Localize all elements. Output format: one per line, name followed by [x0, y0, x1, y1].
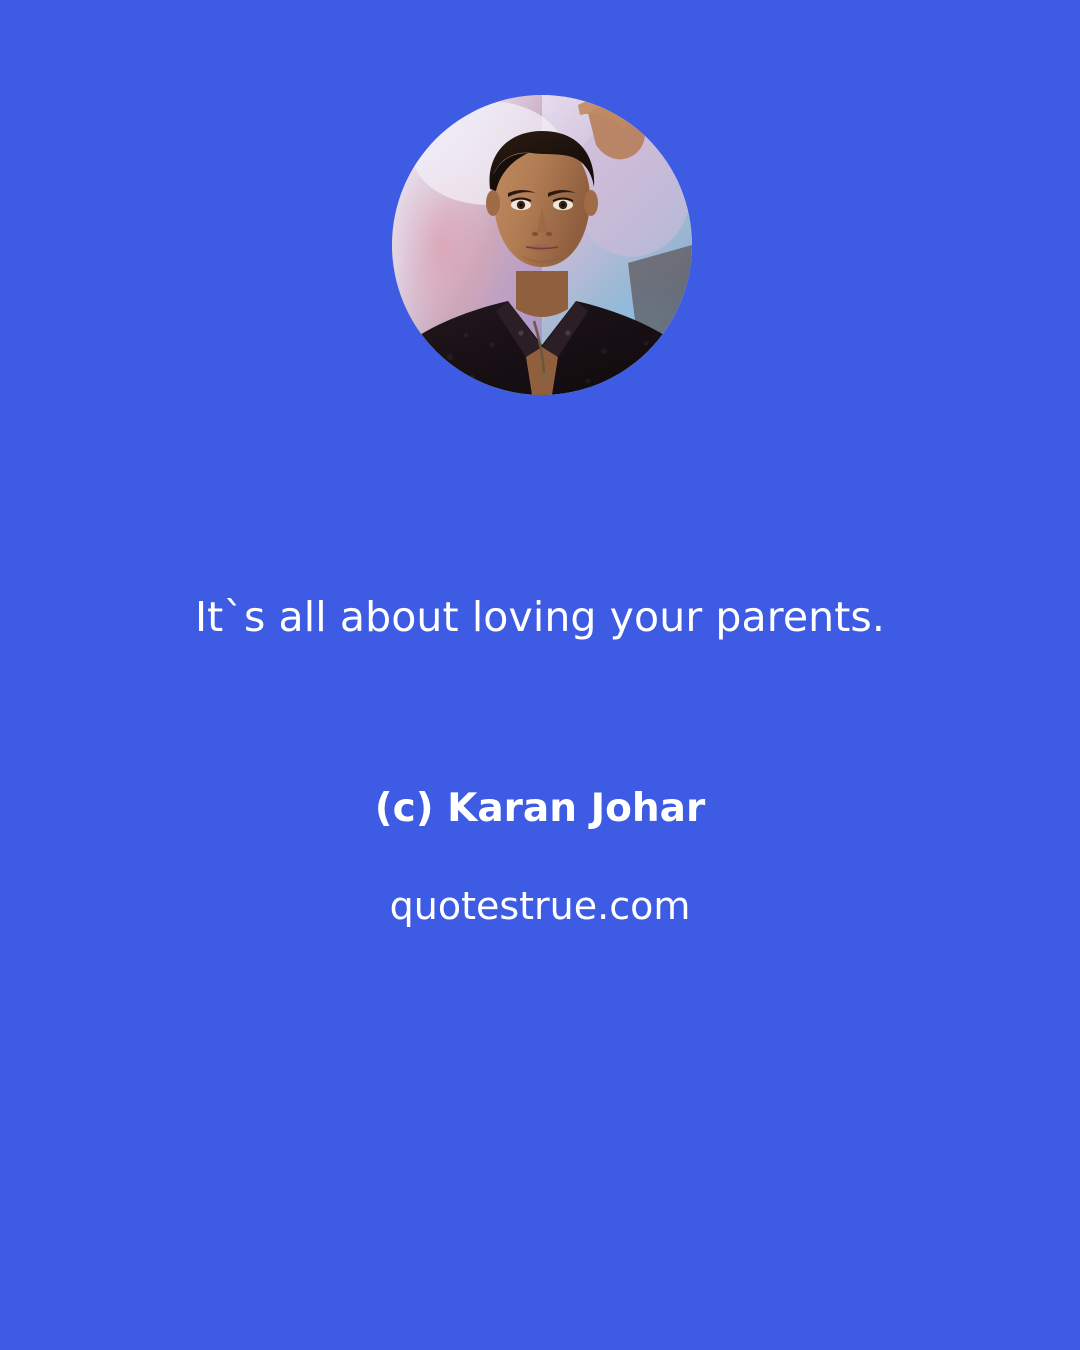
avatar [392, 95, 692, 395]
quote-attribution: (c) Karan Johar [0, 786, 1080, 833]
site-watermark: quotestrue.com [0, 884, 1080, 930]
portrait-avatar-icon [392, 95, 692, 395]
quote-text: It`s all about loving your parents. [0, 592, 1080, 643]
quote-card: It`s all about loving your parents. (c) … [0, 0, 1080, 1350]
avatar-container [392, 95, 692, 395]
